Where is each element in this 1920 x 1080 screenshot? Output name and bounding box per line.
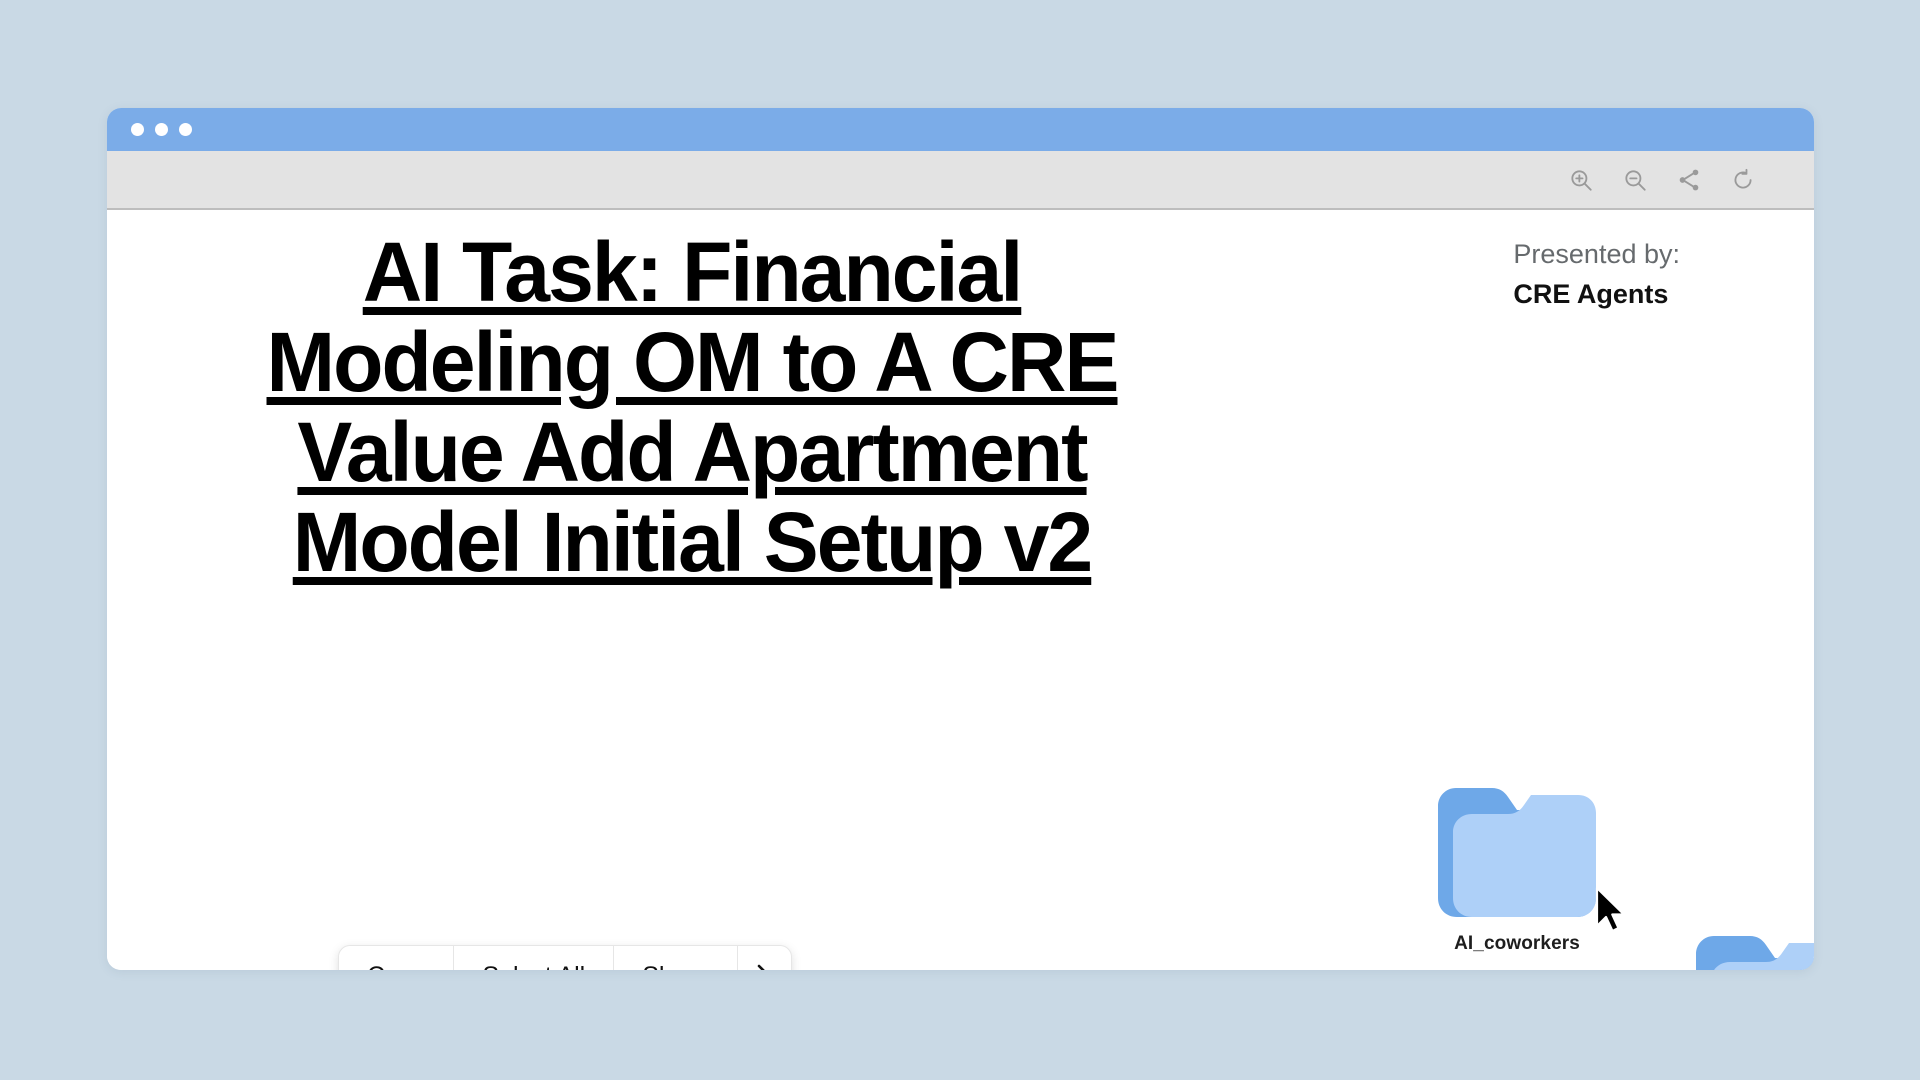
context-menu-item-select-all[interactable]: Select All xyxy=(454,946,614,970)
folder-label: AI_coworkers xyxy=(1432,933,1602,955)
page-title: AI Task: Financial Modeling OM to A CRE … xyxy=(163,228,1221,588)
presenter-label: Presented by: xyxy=(1513,234,1680,275)
presenter-name: CRE Agents xyxy=(1513,275,1680,314)
context-menu-item-share[interactable]: Share xyxy=(614,946,738,970)
viewer-toolbar xyxy=(107,151,1814,210)
context-menu-item-copy[interactable]: Copy xyxy=(339,946,454,970)
title-line-4: Model Initial Setup v2 xyxy=(293,495,1092,589)
context-menu-more-button[interactable] xyxy=(738,946,791,970)
window-dot-2[interactable] xyxy=(155,123,168,136)
app-window: AI Task: Financial Modeling OM to A CRE … xyxy=(107,108,1814,970)
window-titlebar xyxy=(107,108,1814,151)
title-line-1: AI Task: Financial xyxy=(363,225,1022,319)
folder-ai-coworkers[interactable]: AI_coworkers xyxy=(1432,780,1602,955)
chevron-right-icon xyxy=(756,962,773,970)
folder-underwriting-research[interactable]: underwriting_research xyxy=(1672,928,1814,970)
slide-canvas: AI Task: Financial Modeling OM to A CRE … xyxy=(107,210,1814,970)
text-context-menu: Copy Select All Share xyxy=(338,945,792,970)
zoom-out-icon[interactable] xyxy=(1622,167,1648,193)
presenter-block: Presented by: CRE Agents xyxy=(1513,234,1680,314)
share-icon[interactable] xyxy=(1676,167,1702,193)
title-line-3: Value Add Apartment xyxy=(297,405,1086,499)
folder-icon xyxy=(1432,780,1602,926)
rotate-icon[interactable] xyxy=(1730,167,1756,193)
window-dot-3[interactable] xyxy=(179,123,192,136)
title-line-2: Modeling OM to A CRE xyxy=(267,315,1118,409)
folder-icon xyxy=(1690,928,1814,970)
zoom-in-icon[interactable] xyxy=(1568,167,1594,193)
window-dot-1[interactable] xyxy=(131,123,144,136)
